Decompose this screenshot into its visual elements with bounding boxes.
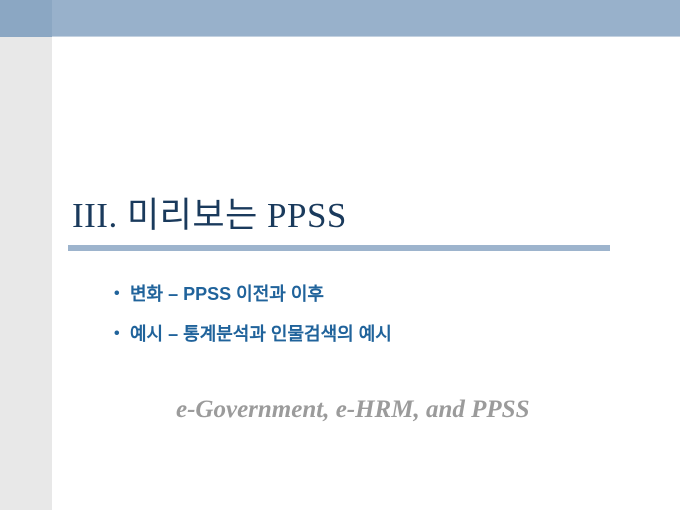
left-sidebar-strip — [0, 37, 52, 510]
top-banner — [0, 0, 680, 37]
slide-subtitle: e-Government, e-HRM, and PPSS — [176, 395, 529, 425]
banner-left-accent — [0, 0, 52, 37]
banner-right-band — [52, 0, 680, 37]
list-item: • 예시 – 통계분석과 인물검색의 예시 — [114, 322, 654, 346]
bullet-list: • 변화 – PPSS 이전과 이후 • 예시 – 통계분석과 인물검색의 예시 — [114, 282, 654, 362]
bullet-item-label: 예시 – 통계분석과 인물검색의 예시 — [130, 322, 654, 346]
slide-title: III. 미리보는 PPSS — [72, 195, 347, 237]
slide-content: III. 미리보는 PPSS • 변화 – PPSS 이전과 이후 • 예시 –… — [52, 37, 680, 510]
bullet-item-label: 변화 – PPSS 이전과 이후 — [130, 282, 654, 306]
presentation-slide: III. 미리보는 PPSS • 변화 – PPSS 이전과 이후 • 예시 –… — [0, 0, 680, 510]
bullet-dot-icon: • — [114, 282, 130, 306]
list-item: • 변화 – PPSS 이전과 이후 — [114, 282, 654, 306]
title-divider-rule — [68, 245, 610, 251]
bullet-dot-icon: • — [114, 322, 130, 346]
